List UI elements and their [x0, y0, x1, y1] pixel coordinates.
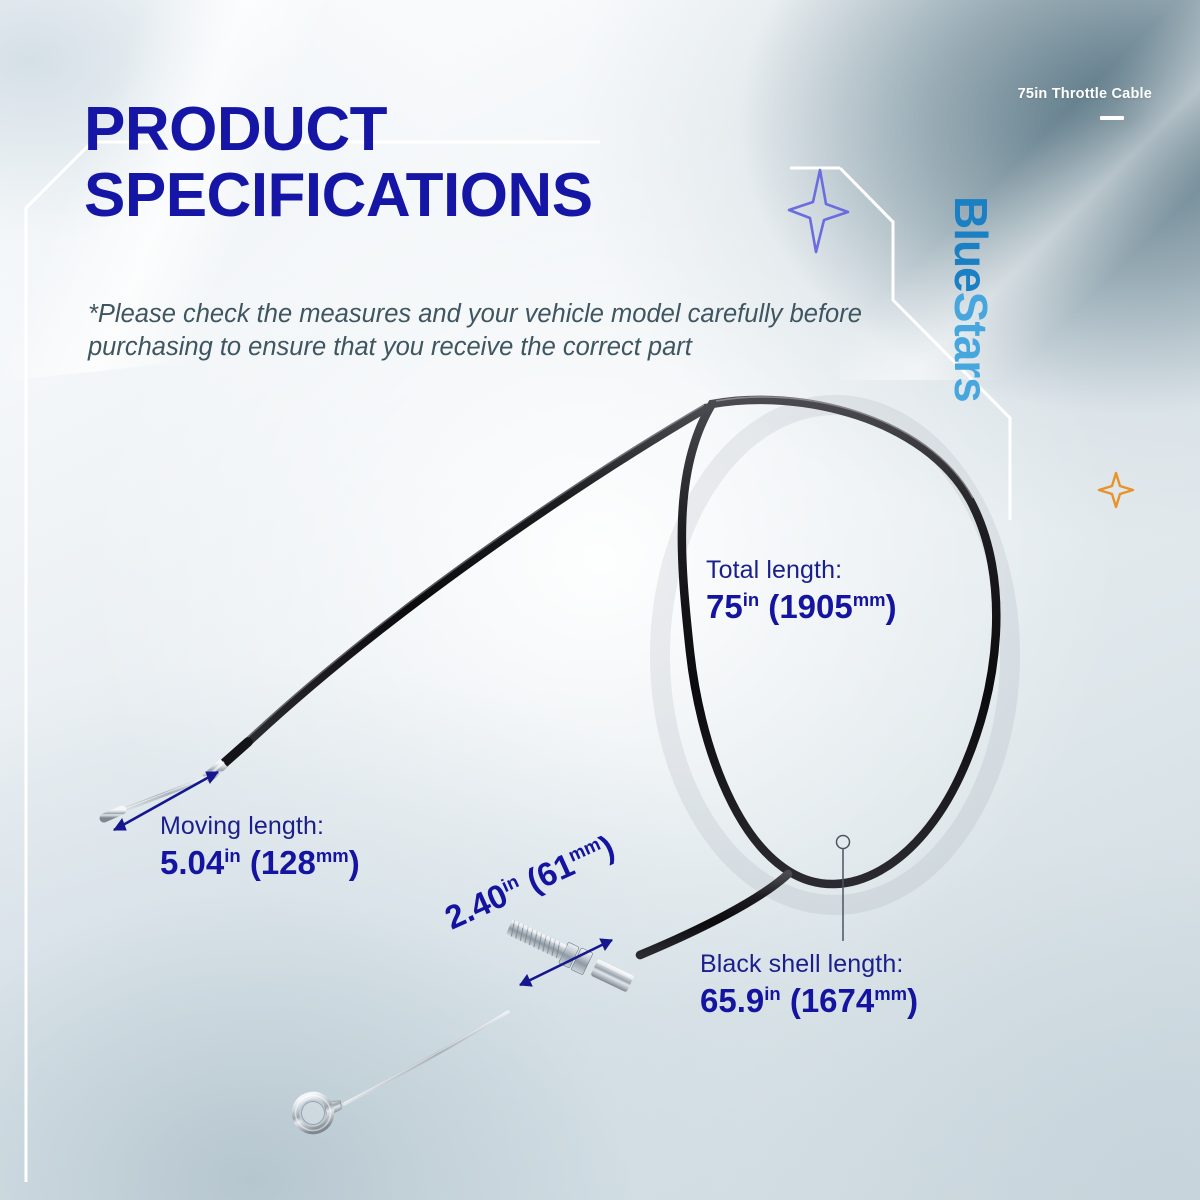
specification-card: PRODUCT SPECIFICATIONS *Please check the… — [0, 0, 1200, 1200]
measurement-black-shell-length: Black shell length: 65.9in (1674mm) — [700, 950, 918, 1020]
measurement-value: 65.9in (1674mm) — [700, 982, 918, 1020]
brand-logo-blue: Blue — [945, 196, 997, 292]
left-wire-tip — [104, 810, 122, 818]
black-shell-leader — [837, 836, 850, 942]
measurement-moving-length: Moving length: 5.04in (128mm) — [160, 812, 360, 882]
measurement-caption: Moving length: — [160, 812, 360, 841]
measurement-caption: Total length: — [706, 556, 897, 585]
brand-logo: BlueStars — [944, 196, 998, 402]
measurement-caption: Black shell length: — [700, 950, 918, 979]
page-title-line2: SPECIFICATIONS — [84, 166, 593, 226]
ring-terminal — [291, 1086, 348, 1135]
cable-upper-run — [248, 408, 706, 742]
product-name-label: 75in Throttle Cable — [1018, 86, 1152, 102]
cable-loop — [682, 400, 996, 884]
inner-wire-left — [118, 778, 207, 812]
page-title: PRODUCT SPECIFICATIONS — [84, 100, 593, 226]
brand-logo-stars: Stars — [945, 292, 997, 402]
measurement-value: 75in (1905mm) — [706, 588, 897, 626]
page-title-line1: PRODUCT — [84, 95, 387, 164]
four-point-star-icon — [786, 168, 850, 254]
title-underline-dash — [1100, 116, 1124, 120]
measurement-value: 5.04in (128mm) — [160, 844, 360, 882]
cable-left-end — [104, 742, 248, 818]
brand-star-icon — [1096, 470, 1136, 510]
disclaimer-text: *Please check the measures and your vehi… — [88, 298, 888, 363]
measurement-total-length: Total length: 75in (1905mm) — [706, 556, 897, 626]
